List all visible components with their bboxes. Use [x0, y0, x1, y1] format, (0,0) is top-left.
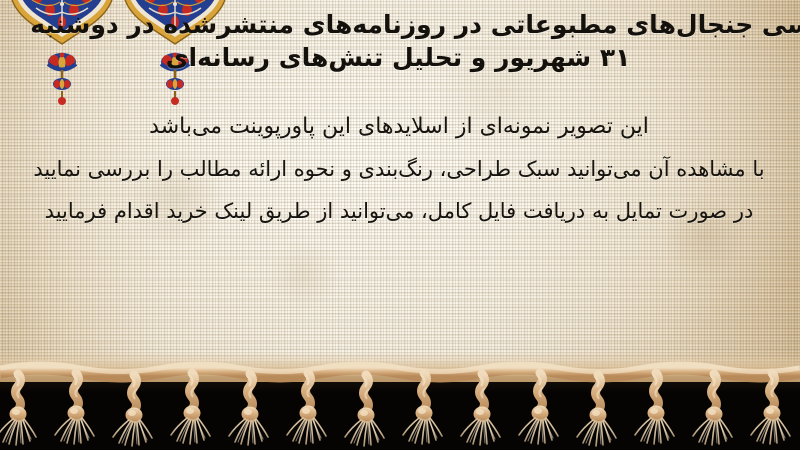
body-line-1: این تصویر نمونه‌ای از اسلایدهای این پاور… — [4, 106, 794, 148]
carpet-black-band — [0, 376, 800, 450]
title-line-1: سی جنجال‌های مطبوعاتی در روزنامه‌های منت… — [0, 8, 800, 41]
slide-canvas: سی جنجال‌های مطبوعاتی در روزنامه‌های منت… — [0, 0, 800, 450]
body-line-2: با مشاهده آن می‌توانید سبک طراحی، رنگ‌بن… — [4, 148, 794, 190]
slide-text-layer: سی جنجال‌های مطبوعاتی در روزنامه‌های منت… — [0, 0, 800, 382]
body-line-3: در صورت تمایل به دریافت فایل کامل، می‌تو… — [4, 190, 794, 232]
band-sheen-overlay — [0, 376, 800, 450]
title-line-2: ۳۱ شهریور و تحلیل تنش‌های رسانه‌ای — [0, 41, 796, 74]
page-title: سی جنجال‌های مطبوعاتی در روزنامه‌های منت… — [0, 8, 796, 74]
body-text-block: این تصویر نمونه‌ای از اسلایدهای این پاور… — [4, 106, 794, 232]
